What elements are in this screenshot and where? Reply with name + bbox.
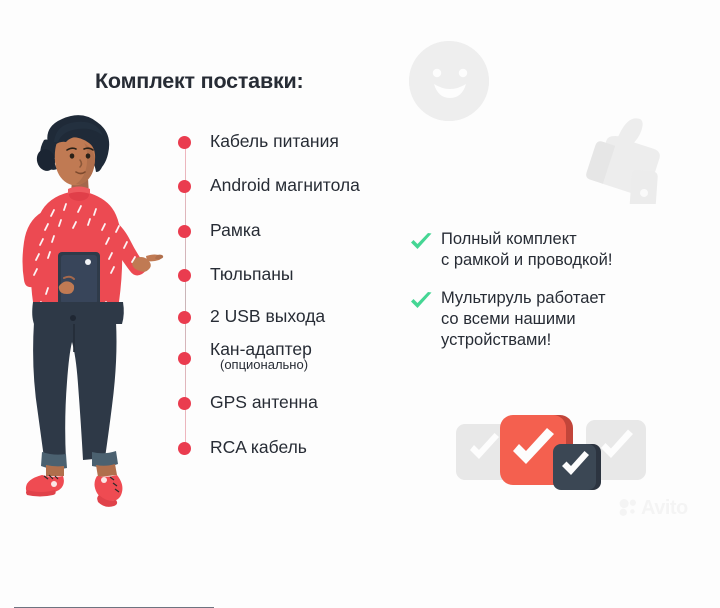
list-item-sublabel: (опционально): [220, 357, 308, 372]
package-list: Кабель питания Android магнитола Рамка Т…: [178, 130, 418, 460]
bullet-dot-icon: [178, 352, 191, 365]
callout-item: Полный комплект с рамкой и проводкой!: [408, 228, 698, 271]
woman-with-tablet-illustration: [14, 112, 179, 512]
list-item-label: Android магнитола: [210, 174, 360, 197]
promo-card: Комплект поставки: Кабель питания Androi…: [0, 0, 720, 540]
green-check-icon: [408, 229, 434, 255]
page-title: Комплект поставки:: [95, 69, 304, 94]
list-item-label: GPS антенна: [210, 391, 318, 414]
bullet-dot-icon: [178, 397, 191, 410]
list-item-label: 2 USB выхода: [210, 305, 325, 328]
benefit-callouts: Полный комплект с рамкой и проводкой! Му…: [408, 228, 698, 367]
callout-item: Мультируль работает со всеми нашими устр…: [408, 287, 698, 351]
avito-logo-icon: [618, 497, 639, 518]
bullet-dot-icon: [178, 442, 191, 455]
callout-text: Мультируль работает со всеми нашими устр…: [441, 287, 606, 351]
list-item-label: Тюльпаны: [210, 263, 293, 286]
thumbs-up-icon: [578, 112, 676, 204]
avito-watermark-text: Avito: [641, 498, 688, 518]
checkbox-chips-illustration: [456, 406, 646, 496]
avito-watermark: Avito: [618, 497, 688, 518]
bullet-dot-icon: [178, 225, 191, 238]
list-item-label: Рамка: [210, 219, 261, 242]
list-item-label: Кабель питания: [210, 130, 339, 153]
bullet-dot-icon: [178, 180, 191, 193]
bullet-dot-icon: [178, 311, 191, 324]
list-item-label: RCA кабель: [210, 436, 307, 459]
bullet-dot-icon: [178, 269, 191, 282]
green-check-icon: [408, 288, 434, 314]
bullet-dot-icon: [178, 136, 191, 149]
smiley-face-icon: [408, 40, 490, 122]
callout-text: Полный комплект с рамкой и проводкой!: [441, 228, 612, 271]
